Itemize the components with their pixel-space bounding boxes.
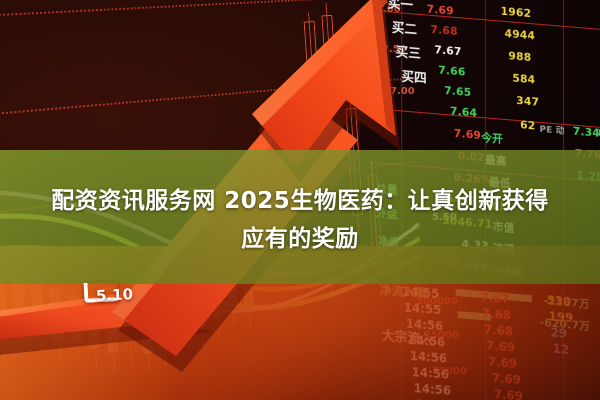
- headline-line-1: 配资资讯服务网 2025生物医药：让真创新获得: [51, 181, 549, 215]
- stock-market-banner: 8.00 7.50 7.00 5.50 7.69 7.68 7.67 7.66 …: [0, 0, 600, 400]
- ma-price-tag: 5.10: [96, 285, 134, 305]
- headline-text: 配资资讯服务网 2025生物医药：让真创新获得 应有的奖励: [0, 150, 600, 284]
- headline-line-2: 应有的奖励: [241, 219, 359, 253]
